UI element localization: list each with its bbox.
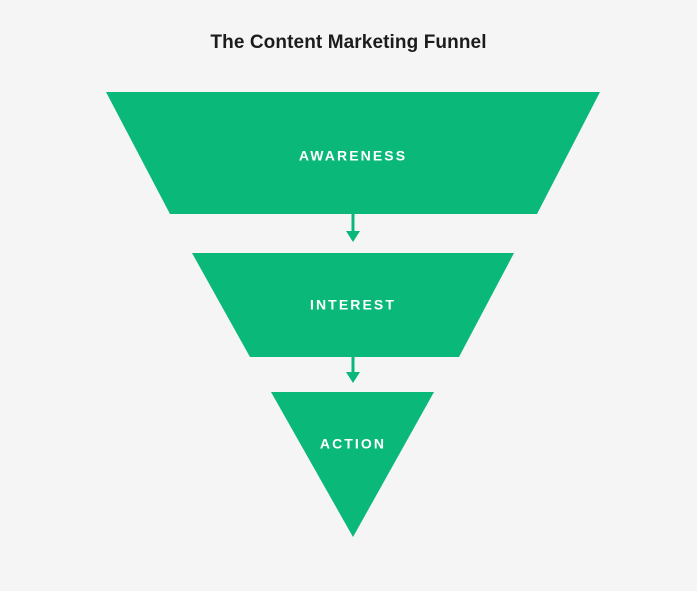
- connector-arrow-interest-to-action: [346, 357, 360, 383]
- awareness-label: AWARENESS: [299, 148, 407, 164]
- arrow-shaft-1: [352, 214, 355, 233]
- arrow-shaft-2: [352, 357, 355, 374]
- funnel-chart: AWARENESS INTEREST ACTION: [0, 0, 697, 591]
- funnel-diagram-canvas: The Content Marketing Funnel AWARENESS I…: [0, 0, 697, 591]
- interest-label: INTEREST: [310, 297, 396, 313]
- funnel-stage-action[interactable]: ACTION: [271, 392, 434, 537]
- funnel-stage-awareness[interactable]: AWARENESS: [106, 92, 600, 214]
- funnel-stage-interest[interactable]: INTEREST: [192, 253, 514, 357]
- arrow-head-down-icon: [346, 231, 360, 242]
- action-triangle-shape[interactable]: [271, 392, 434, 537]
- arrow-head-down-icon-2: [346, 372, 360, 383]
- connector-arrow-awareness-to-interest: [346, 214, 360, 242]
- action-label: ACTION: [320, 436, 386, 452]
